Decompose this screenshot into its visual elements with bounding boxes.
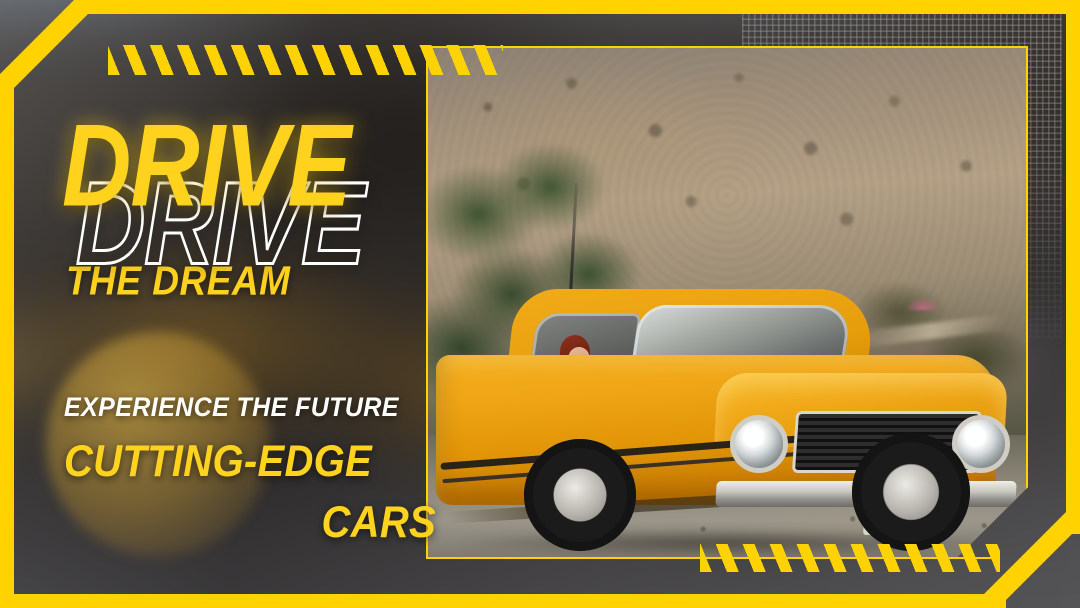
promo-line-two: CARS <box>64 498 436 548</box>
vintage-car <box>436 221 1016 551</box>
front-wheel-hubcap <box>884 465 938 519</box>
rear-wheel-hubcap <box>554 469 606 521</box>
hero-photo-panel <box>426 46 1028 559</box>
headline-solid-text: DRIVE <box>62 108 350 225</box>
car-front-wheel <box>852 433 970 551</box>
promo-banner: DRIVE DRIVE THE DREAM EXPERIENCE THE FUT… <box>0 0 1080 608</box>
frame-bar-right <box>1066 0 1080 534</box>
frame-bar-left <box>0 74 14 608</box>
frame-bar-bottom <box>0 594 1006 608</box>
promo-block: EXPERIENCE THE FUTURE CUTTING-EDGE CARS <box>64 392 436 543</box>
promo-eyebrow: EXPERIENCE THE FUTURE <box>64 392 436 423</box>
headline-block: DRIVE DRIVE <box>62 108 422 278</box>
frame-bar-top <box>74 0 1080 14</box>
hero-photo-image <box>428 48 1026 557</box>
car-headlight-left <box>730 415 788 473</box>
car-rear-wheel <box>524 439 636 551</box>
promo-line-one: CUTTING-EDGE <box>64 437 436 487</box>
stripe-band-top <box>108 45 503 75</box>
stripe-band-rule <box>700 557 1000 559</box>
